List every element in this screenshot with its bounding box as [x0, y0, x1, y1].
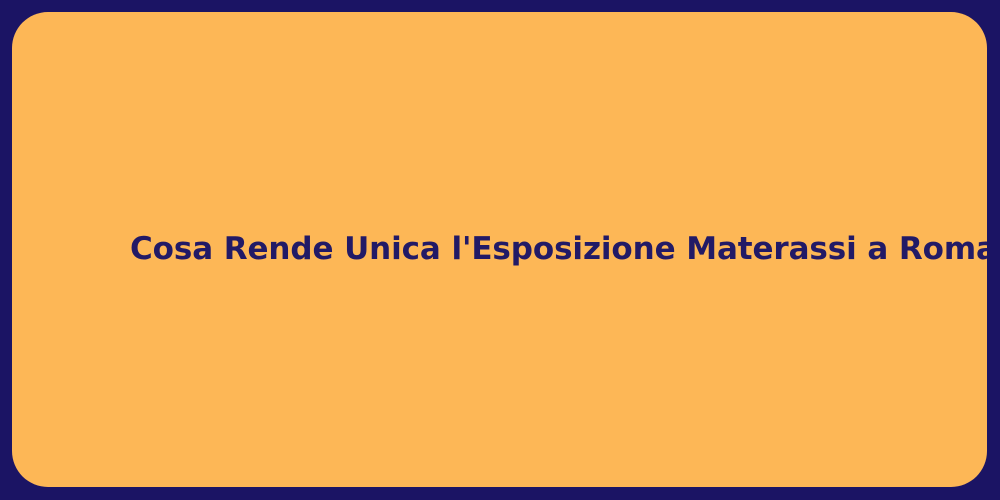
outer-frame: Cosa Rende Unica l'Esposizione Materassi… — [0, 0, 1000, 500]
card-content-wrapper: Cosa Rende Unica l'Esposizione Materassi… — [12, 230, 987, 269]
page-title: Cosa Rende Unica l'Esposizione Materassi… — [130, 230, 987, 269]
content-card: Cosa Rende Unica l'Esposizione Materassi… — [12, 12, 987, 487]
